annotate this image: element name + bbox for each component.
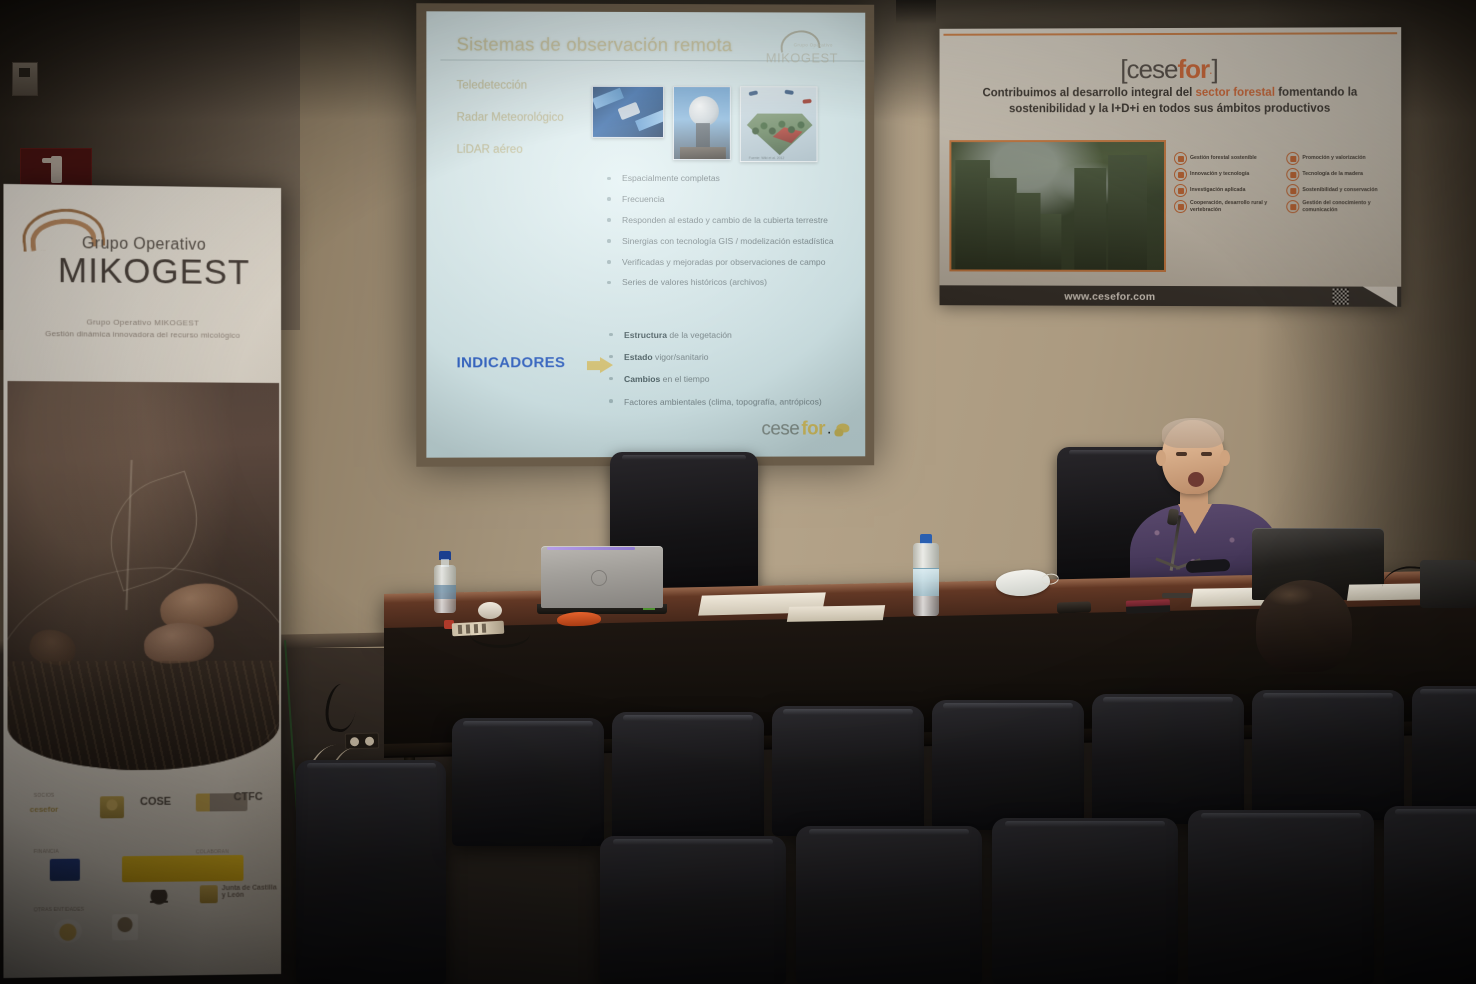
knowledge-icon <box>1286 200 1299 213</box>
banner-logo-cesefor: cesefor <box>30 805 59 814</box>
banner-caption-financia: FINANCIA <box>34 849 59 855</box>
slide-mode-teledeteccion: Teledetección <box>457 80 607 92</box>
poster-service-3-label: Tecnología de la madera <box>1302 171 1363 178</box>
presenter-remote[interactable] <box>1057 601 1091 613</box>
slide-indicator-3-rest: ambientales (clima, topografía, antrópic… <box>657 396 821 406</box>
cooperation-icon <box>1174 200 1187 213</box>
banner-logo-partner-icon <box>100 796 124 818</box>
speaker-eye-right <box>1201 452 1212 456</box>
slide-thumbnails: Fuente: Wiki et al. 2012 <box>592 86 818 162</box>
mikogest-swoosh-icon <box>779 28 821 53</box>
banner-caption-otras: OTRAS ENTIDADES <box>34 907 84 914</box>
slide-indicator-0-strong: Estructura <box>624 330 667 340</box>
banner-subtitle-line2: Gestión dinámica innovadora del recurso … <box>3 329 281 341</box>
slide-cesefor-dot: . <box>827 421 831 439</box>
research-icon <box>1174 184 1187 197</box>
slide-mikogest-name: MIKOGEST <box>766 50 838 65</box>
speaker-hair <box>1162 418 1224 448</box>
speaker-ear-left <box>1156 450 1166 466</box>
wall-device-box <box>12 62 38 96</box>
poster-service-6-label: Cooperación, desarrollo rural y vertebra… <box>1190 200 1280 213</box>
slide-bullet-5: Series de valores históricos (archivos) <box>605 278 865 288</box>
weather-radar-image <box>673 86 731 160</box>
slide-indicator-list: Estructura de la vegetación Estado vigor… <box>607 330 846 419</box>
slide-indicator-3-strong: Factores <box>624 396 657 406</box>
speaker-mouth <box>1188 472 1204 487</box>
audience-chair-row1-5[interactable] <box>1092 694 1244 824</box>
slide-modes-list: Teledetección Radar Meteorológico LiDAR … <box>457 80 607 176</box>
audience-chair-row1-6[interactable] <box>1252 690 1404 820</box>
banner-title: MIKOGEST <box>58 251 250 293</box>
poster-service-3: Tecnología de la madera <box>1286 168 1393 181</box>
laptop-far-right[interactable] <box>1420 560 1476 616</box>
speaker-eye-left <box>1176 452 1187 456</box>
audience-chair-row1-3[interactable] <box>772 706 924 836</box>
banner-logo-cose: COSE <box>140 796 171 808</box>
poster-service-5: Sostenibilidad y conservación <box>1286 184 1393 197</box>
poster-service-5-label: Sostenibilidad y conservación <box>1302 187 1377 194</box>
slide-mikogest-superscript: Grupo Operativo <box>794 42 833 47</box>
poster-tagline-highlight: sector forestal <box>1196 87 1275 99</box>
banner-logo-jcyl: Junta de Castilla y León <box>222 884 281 899</box>
mushroom-icon <box>834 422 851 437</box>
banner-caption-colabora: COLABORAN <box>196 849 229 855</box>
audience-chair-row1-7[interactable] <box>1412 686 1476 816</box>
innovation-icon <box>1174 168 1187 181</box>
audience-chair-row2-3[interactable] <box>992 818 1178 984</box>
slide-mode-radar: Radar Meteorológico <box>457 112 607 124</box>
lidar-forest-image: Fuente: Wiki et al. 2012 <box>740 86 818 162</box>
poster-service-0: Gestión forestal sostenible <box>1174 152 1280 165</box>
forest-landscape-photo <box>949 140 1166 272</box>
slide-indicator-0: Estructura de la vegetación <box>607 330 846 342</box>
promotion-icon <box>1286 152 1299 165</box>
slide-bullet-1: Frecuencia <box>605 195 865 205</box>
slide-bullet-3: Sinergias con tecnología GIS / modelizac… <box>605 237 865 247</box>
wood-technology-icon <box>1286 168 1299 181</box>
poster-service-0-label: Gestión forestal sostenible <box>1190 155 1257 162</box>
slide-cesefor-part1: cese <box>761 419 799 441</box>
slide-indicator-1-strong: Estado <box>624 352 653 362</box>
extinguisher-icon <box>51 156 62 183</box>
slide-bullet-2: Responden al estado y cambio de la cubie… <box>605 216 865 226</box>
poster-service-1-label: Promoción y valorización <box>1302 155 1365 162</box>
fire-extinguisher-sign <box>20 148 92 188</box>
chair-armrest <box>1186 559 1231 573</box>
mushrooms-forest-floor-photo <box>8 381 280 771</box>
banner-logo-eu-flag <box>50 859 80 881</box>
poster-cesefor-logo: [cesefor.] <box>1120 54 1217 85</box>
lidar-image-caption: Fuente: Wiki et al. 2012 <box>749 156 784 160</box>
slide-indicadores-label: INDICADORES <box>457 354 566 371</box>
banner-logo-tree-icon <box>150 890 168 918</box>
banner-logo-spain-gov <box>122 855 243 882</box>
projection-screen: Sistemas de observación remota Grupo Ope… <box>416 3 874 467</box>
satellite-image <box>592 86 664 138</box>
banner-subtitle-line1: Grupo Operativo MIKOGEST <box>3 317 281 329</box>
audience-chair-row2-4[interactable] <box>1188 810 1374 984</box>
banner-logo-section: SOCIOS cesefor COSE CTFC FINANCIA OTRAS … <box>3 781 281 978</box>
poster-top-rule <box>943 32 1397 36</box>
slide-mode-lidar: LiDAR aéreo <box>457 144 607 156</box>
papers-sheet-left <box>787 605 885 622</box>
audience-chair-row1-1[interactable] <box>452 718 604 846</box>
poster-logo-part2: for <box>1177 54 1209 85</box>
banner-logo-entity-1 <box>54 919 82 943</box>
audience-chair-row2-1[interactable] <box>600 836 786 984</box>
white-mouse[interactable] <box>478 602 502 619</box>
poster-service-1: Promoción y valorización <box>1286 152 1393 165</box>
poster-footer-bar: www.cesefor.com <box>940 285 1402 307</box>
slide-bullet-4: Verificadas y mejoradas por observacione… <box>605 257 865 267</box>
poster-service-4: Investigación aplicada <box>1174 184 1280 197</box>
banner-logo-ctfc: CTFC <box>234 791 263 803</box>
banner-logo-entity-2 <box>112 914 138 940</box>
forest-management-icon <box>1174 152 1187 165</box>
slide-indicator-2-rest: en el tiempo <box>660 374 709 384</box>
dell-logo-icon <box>591 570 607 586</box>
water-bottle[interactable] <box>434 551 456 613</box>
slide-surface: Sistemas de observación remota Grupo Ope… <box>426 11 865 457</box>
slide-mikogest-logo: Grupo Operativo MIKOGEST <box>764 30 854 72</box>
slide-title: Sistemas de observación remota <box>457 33 733 56</box>
poster-service-list: Gestión forestal sostenible Promoción y … <box>1174 152 1393 213</box>
speaker-ear-right <box>1220 450 1230 466</box>
hand-sanitizer-bottle[interactable] <box>913 534 939 616</box>
slide-indicator-3: Factores ambientales (clima, topografía,… <box>607 396 846 408</box>
poster-logo-bracket-close: ] <box>1211 54 1217 85</box>
sustainability-icon <box>1286 184 1299 197</box>
slide-indicator-0-rest: de la vegetación <box>667 330 732 340</box>
ceiling-strip <box>896 0 936 24</box>
slide-indicator-1-rest: vigor/sanitario <box>653 352 709 362</box>
poster-service-7-label: Gestión del conocimiento y comunicación <box>1302 200 1393 213</box>
poster-tagline-pre: Contribuimos al desarrollo integral del <box>982 87 1195 99</box>
slide-cesefor-part2: for <box>801 419 825 441</box>
audience-chair-left-edge[interactable] <box>296 760 446 984</box>
conference-room-scene: Sistemas de observación remota Grupo Ope… <box>0 0 1476 984</box>
audience-chair-row1-2[interactable] <box>612 712 764 842</box>
poster-url: www.cesefor.com <box>1064 291 1155 303</box>
poster-service-6: Cooperación, desarrollo rural y vertebra… <box>1174 200 1280 213</box>
poster-service-2: Innovación y tecnología <box>1174 168 1280 181</box>
slide-indicator-1: Estado vigor/sanitario <box>607 352 846 364</box>
cesefor-wall-poster: [cesefor.] Contribuimos al desarrollo in… <box>940 27 1402 307</box>
slide-bullet-list: Espacialmente completas Frecuencia Respo… <box>605 174 865 299</box>
poster-corner-fold <box>1363 287 1397 307</box>
poster-service-4-label: Investigación aplicada <box>1190 187 1245 194</box>
slide-cesefor-logo: cesefor. <box>761 418 851 440</box>
dell-laptop-silver[interactable] <box>541 546 663 618</box>
slide-indicator-2: Cambios en el tiempo <box>607 374 846 386</box>
desk-cable <box>470 620 530 648</box>
banner-logo-jcyl-icon <box>200 885 218 903</box>
poster-service-2-label: Innovación y tecnología <box>1190 171 1249 178</box>
poster-logo-part1: cese <box>1127 54 1178 85</box>
banner-caption-socios: SOCIOS <box>34 793 55 799</box>
audience-member-head <box>1256 580 1352 672</box>
slide-bullet-0: Espacialmente completas <box>605 174 865 184</box>
poster-service-7: Gestión del conocimiento y comunicación <box>1286 200 1393 213</box>
mikogest-rollup-banner: Grupo Operativo MIKOGEST Grupo Operativo… <box>3 184 281 978</box>
qr-code-icon <box>1333 289 1349 305</box>
poster-tagline: Contribuimos al desarrollo integral del … <box>957 86 1383 118</box>
slide-indicator-2-strong: Cambios <box>624 374 660 384</box>
audience-chair-row2-5[interactable] <box>1384 806 1476 984</box>
audience-chair-row1-4[interactable] <box>932 700 1084 830</box>
audience-chair-row2-2[interactable] <box>796 826 982 984</box>
